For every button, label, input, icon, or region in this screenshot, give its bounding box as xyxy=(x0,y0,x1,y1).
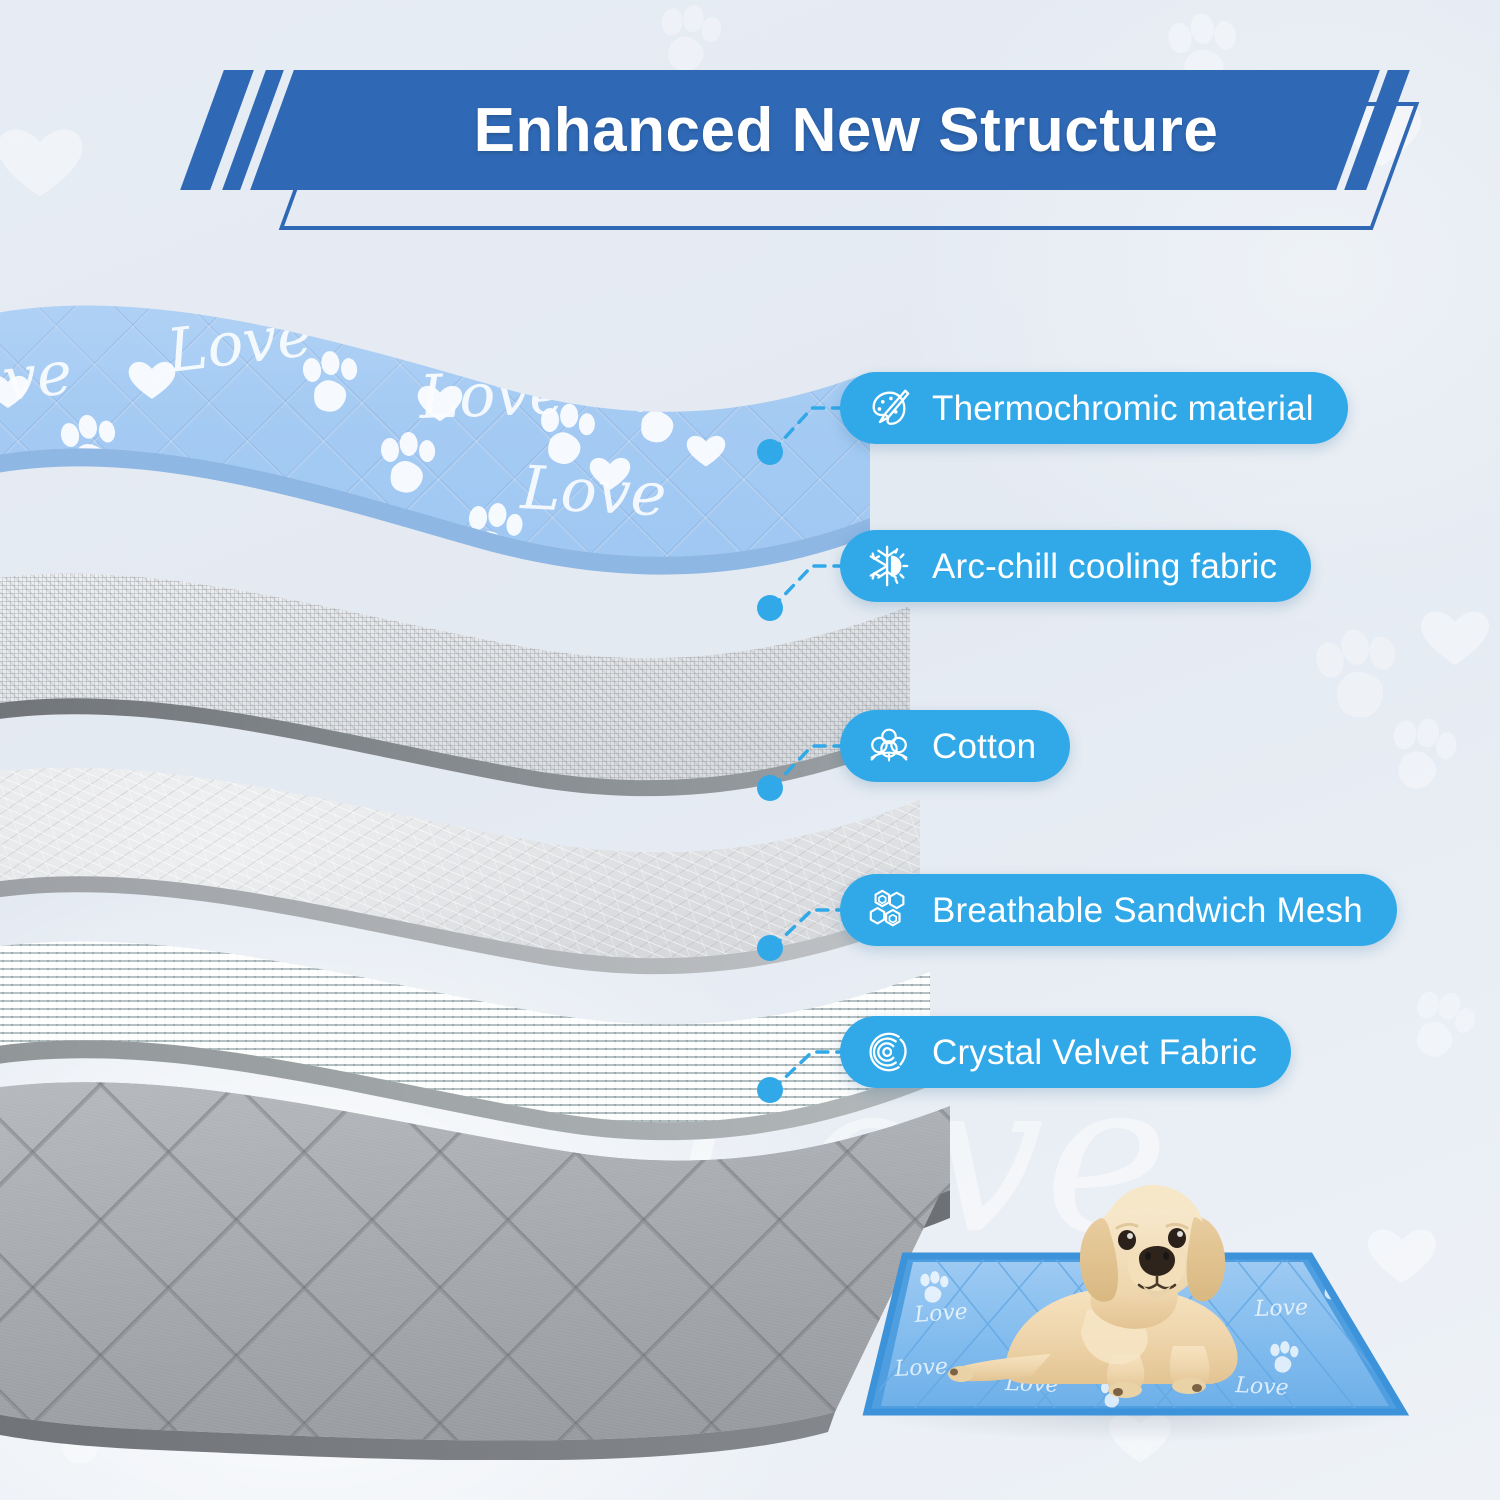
badge-breathable-sandwich-mesh[interactable]: Breathable Sandwich Mesh xyxy=(840,874,1397,946)
thermochromic-print-pattern: Love Love Love Love Love Love xyxy=(0,250,880,650)
header-banner: Enhanced New Structure xyxy=(196,60,1400,228)
thermochromic-edge-binding xyxy=(0,448,870,574)
cotton-boll-icon xyxy=(866,723,912,769)
infographic-canvas: Love Love xyxy=(0,0,1500,1500)
layer-thermochromic-material: Love Love Love Love Love Love xyxy=(0,250,880,650)
badge-label: Arc-chill cooling fabric xyxy=(932,549,1277,584)
svg-text:Love: Love xyxy=(913,1299,969,1328)
svg-text:Love: Love xyxy=(1234,1373,1290,1401)
page-title: Enhanced New Structure xyxy=(346,70,1346,190)
badge-crystal-velvet-fabric[interactable]: Crystal Velvet Fabric xyxy=(840,1016,1291,1088)
badge-label: Cotton xyxy=(932,729,1036,764)
snowflake-sun-icon xyxy=(866,543,912,589)
honeycomb-icon xyxy=(866,887,912,933)
badge-label: Breathable Sandwich Mesh xyxy=(932,893,1363,928)
velvet-swirl-icon xyxy=(866,1029,912,1075)
badge-label: Thermochromic material xyxy=(932,391,1314,426)
badge-thermochromic-material[interactable]: Thermochromic material xyxy=(840,372,1348,444)
paint-palette-icon xyxy=(866,385,912,431)
product-photo-dog-on-mat: Love Love Love Love Love xyxy=(855,1140,1455,1490)
badge-cotton[interactable]: Cotton xyxy=(840,710,1070,782)
svg-text:Love: Love xyxy=(162,300,316,387)
badge-arc-chill-cooling-fabric[interactable]: Arc-chill cooling fabric xyxy=(840,530,1311,602)
badge-label: Crystal Velvet Fabric xyxy=(932,1035,1257,1070)
svg-text:Love: Love xyxy=(893,1354,949,1382)
svg-text:Love: Love xyxy=(15,477,166,557)
svg-text:Love: Love xyxy=(1253,1295,1308,1322)
